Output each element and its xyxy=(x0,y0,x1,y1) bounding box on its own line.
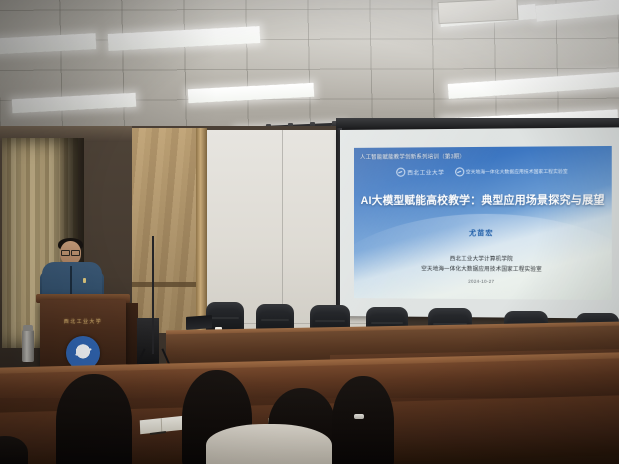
projection-screen: 人工智能赋能教学创新系列培训（第3期） 西北工业大学 空天地海一体化大数据应用技… xyxy=(340,127,619,318)
laptop-on-table xyxy=(186,315,212,330)
university-logo: 西北工业大学 xyxy=(396,167,444,176)
podium-engraved-text: 西北工业大学 xyxy=(55,318,111,325)
slide-speaker-name: 尤苗宏 xyxy=(354,228,612,238)
wood-panel-seam xyxy=(126,282,202,287)
slide-title: AI大模型赋能高校教学：典型应用场景探究与展望 xyxy=(354,192,612,208)
speaker-badge xyxy=(83,278,86,283)
lab-logo: 空天地海一体化大数据应用技术国家工程实验室 xyxy=(455,167,568,177)
university-logo-text: 西北工业大学 xyxy=(407,168,444,176)
slide-banner-text: 人工智能赋能教学创新系列培训（第3期） xyxy=(360,152,465,161)
audience-member xyxy=(56,374,132,464)
slide-affiliation-line-2: 空天地海一体化大数据应用技术国家工程实验室 xyxy=(354,264,612,273)
wall-pillar xyxy=(196,128,207,336)
mic-stand-pole xyxy=(152,236,154,354)
hair-clip xyxy=(354,414,364,419)
audience-member-jacket xyxy=(206,424,332,464)
slide-affiliation-line-1: 西北工业大学计算机学院 xyxy=(354,254,612,263)
lab-logo-text: 空天地海一体化大数据应用技术国家工程实验室 xyxy=(466,168,568,175)
slide-date: 2024-10-27 xyxy=(354,278,612,285)
slide-logo-row: 西北工业大学 空天地海一体化大数据应用技术国家工程实验室 xyxy=(354,167,612,177)
lecture-hall-photo: 人工智能赋能教学创新系列培训（第3期） 西北工业大学 空天地海一体化大数据应用技… xyxy=(0,0,619,464)
university-emblem-icon xyxy=(396,168,405,177)
speaker-glasses xyxy=(61,250,80,254)
presentation-slide: 人工智能赋能教学创新系列培训（第3期） 西北工业大学 空天地海一体化大数据应用技… xyxy=(354,146,612,300)
lab-emblem-icon xyxy=(455,167,464,176)
thermos-flask xyxy=(22,330,34,362)
audience-member xyxy=(332,376,394,464)
